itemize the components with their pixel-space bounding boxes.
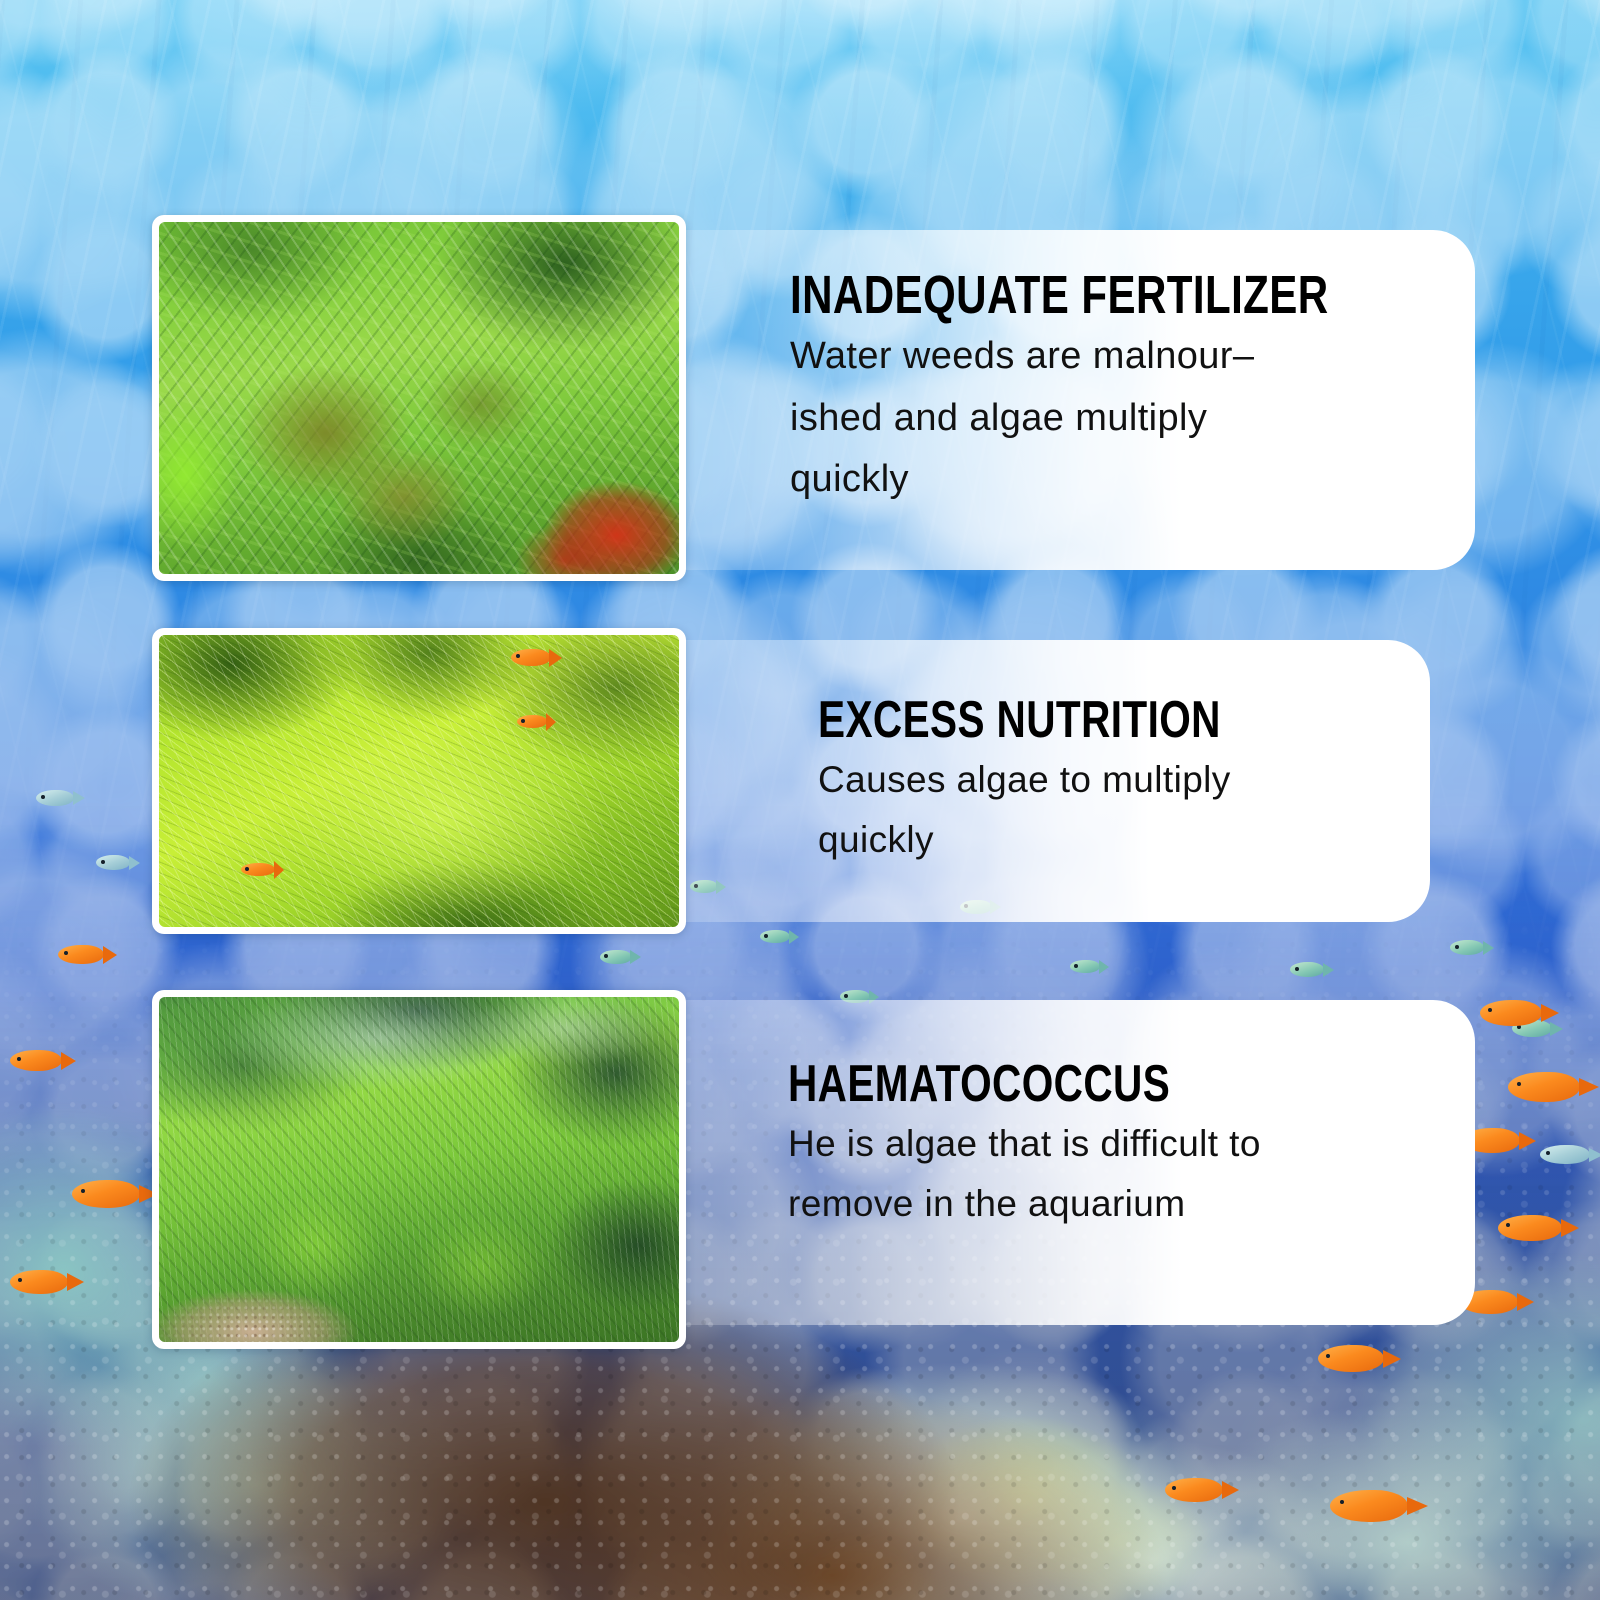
photo-green-algae-on-rock-and-gravel[interactable] [152,990,686,1349]
photo-green-seaweed-and-red-algae[interactable] [152,215,686,581]
photo-image [159,222,679,574]
photo-image [159,635,679,927]
photo-image [159,997,679,1342]
card-body: HAEMATOCOCCUS He is algae that is diffic… [788,1058,1419,1234]
photo-green-hair-algae-with-fish[interactable] [152,628,686,934]
infographic-canvas: INADEQUATE FERTILIZER Water weeds are ma… [0,0,1600,1600]
card-body: EXCESS NUTRITION Causes algae to multipl… [818,694,1374,870]
card-title: INADEQUATE FERTILIZER [790,268,1281,322]
card-title: HAEMATOCOCCUS [788,1058,1280,1110]
card-title: EXCESS NUTRITION [818,694,1252,746]
card-description: Water weeds are malnour–ished and algae … [790,326,1419,511]
card-description: He is algae that is difficult toremove i… [788,1114,1419,1234]
card-body: INADEQUATE FERTILIZER Water weeds are ma… [790,268,1419,511]
card-description: Causes algae to multiplyquickly [818,750,1374,870]
